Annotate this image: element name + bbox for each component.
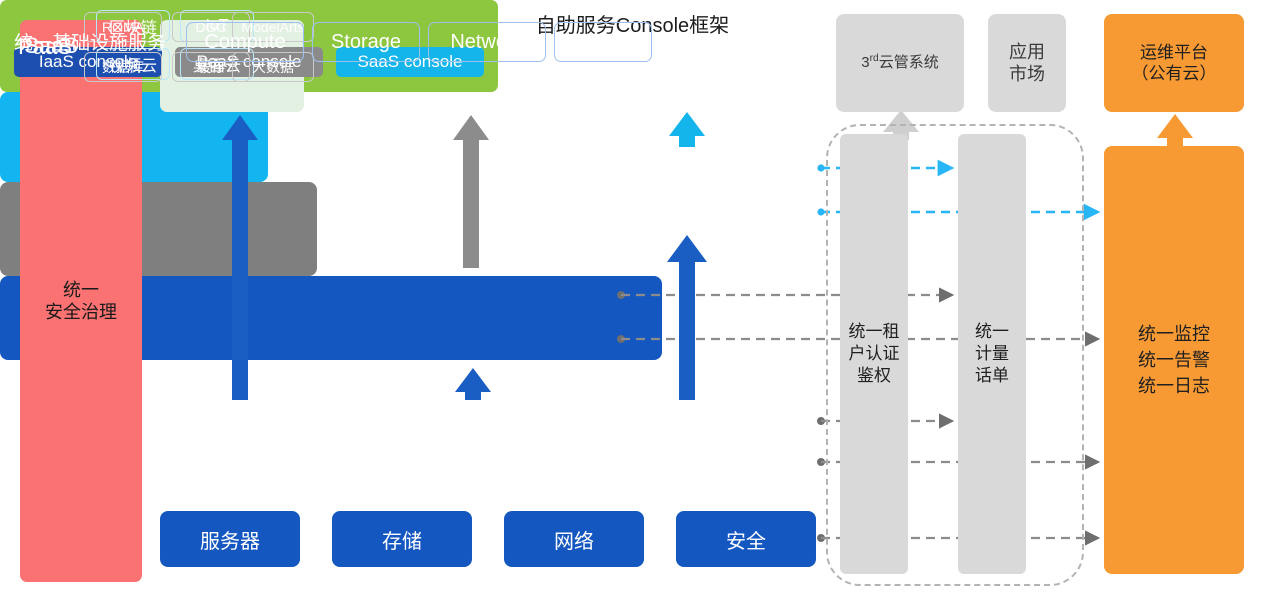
paas-service-database-label: 数据库 <box>102 57 144 77</box>
resource-network-label: 网络 <box>554 525 594 554</box>
infra-service-network-label: Network <box>450 31 523 54</box>
resource-security-label: 安全 <box>726 525 766 554</box>
resource-storage[interactable]: 存储 <box>332 511 472 567</box>
infra-service-storage[interactable]: Storage <box>312 22 420 62</box>
infra-service-compute[interactable]: Compute <box>186 22 304 62</box>
third-party-cloud-management-box[interactable]: 3rd云管系统 <box>836 14 964 112</box>
third-cloud-ordinal-suffix: rd <box>870 53 879 64</box>
third-cloud-prefix: 3 <box>861 54 869 71</box>
unified-infrastructure-service-label: 统一基础设施服务 <box>14 28 166 55</box>
resource-security[interactable]: 安全 <box>676 511 816 567</box>
resource-network[interactable]: 网络 <box>504 511 644 567</box>
unified-metering-billing-column[interactable]: 统一计量话单 <box>958 134 1026 574</box>
infra-service-compute-label: Compute <box>204 31 285 54</box>
infra-service-network[interactable]: Network <box>428 22 546 62</box>
resource-server[interactable]: 服务器 <box>160 511 300 567</box>
infra-service-cce-label: CCE <box>582 31 624 54</box>
paas-service-database[interactable]: 数据库 <box>84 52 162 82</box>
third-party-cloud-management-label: 3rd云管系统 <box>861 53 938 73</box>
unified-tenant-auth-column[interactable]: 统一租户认证鉴权 <box>840 134 908 574</box>
resource-server-label: 服务器 <box>200 525 260 554</box>
infra-service-storage-label: Storage <box>331 31 401 54</box>
architecture-diagram: 统一安全治理 API网关 自助服务Console框架 IaaS console … <box>0 0 1265 605</box>
ops-platform-public-cloud-label: 运维平台（公有云） <box>1132 42 1217 85</box>
unified-security-governance[interactable]: 统一安全治理 <box>20 20 142 582</box>
unified-tenant-auth-label: 统一租户认证鉴权 <box>849 321 900 387</box>
unified-metering-billing-label: 统一计量话单 <box>975 321 1009 387</box>
unified-monitoring-alarm-log-label: 统一监控统一告警统一日志 <box>1138 321 1210 399</box>
unified-security-governance-label: 统一安全治理 <box>45 279 117 324</box>
infra-service-cce[interactable]: CCE <box>554 22 652 62</box>
resource-storage-label: 存储 <box>382 525 422 554</box>
third-cloud-suffix: 云管系统 <box>879 54 939 71</box>
unified-monitoring-alarm-log-column[interactable]: 统一监控统一告警统一日志 <box>1104 146 1244 574</box>
ops-platform-public-cloud-box[interactable]: 运维平台（公有云） <box>1104 14 1244 112</box>
application-market-box[interactable]: 应用市场 <box>988 14 1066 112</box>
application-market-label: 应用市场 <box>1009 41 1045 86</box>
